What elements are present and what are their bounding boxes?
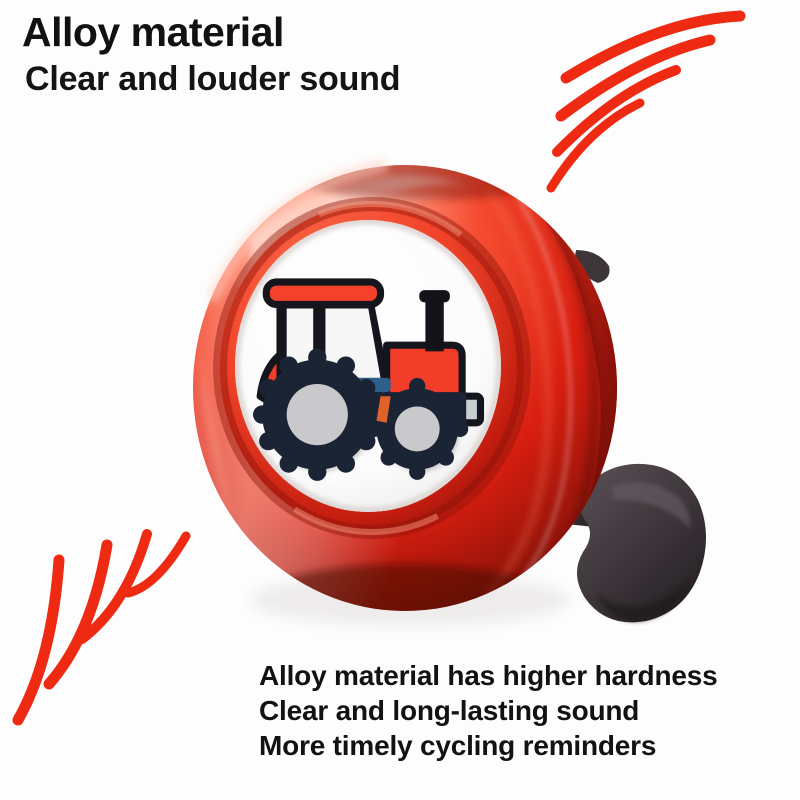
- tractor-roof: [266, 282, 380, 304]
- tractor-front-hub: [395, 406, 440, 451]
- sound-waves-top-right: [551, 16, 740, 188]
- page-title: Alloy material: [22, 8, 542, 56]
- feature-list: Alloy material has higher hardness Clear…: [259, 658, 799, 763]
- feature-line-3: More timely cycling reminders: [259, 728, 799, 763]
- page-subtitle: Clear and louder sound: [25, 58, 542, 100]
- tractor-exhaust-cap: [419, 290, 450, 302]
- bell-face: [235, 220, 501, 512]
- feature-line-1: Alloy material has higher hardness: [259, 658, 799, 693]
- headline-block: Alloy material Clear and louder sound: [22, 8, 542, 100]
- feature-line-2: Clear and long-lasting sound: [259, 693, 799, 728]
- sound-waves-bottom-left: [18, 534, 186, 720]
- product-image-canvas: Alloy material Clear and louder sound Al…: [0, 0, 800, 800]
- tractor-exhaust-stack: [425, 298, 443, 351]
- tractor-rear-hub: [287, 384, 348, 445]
